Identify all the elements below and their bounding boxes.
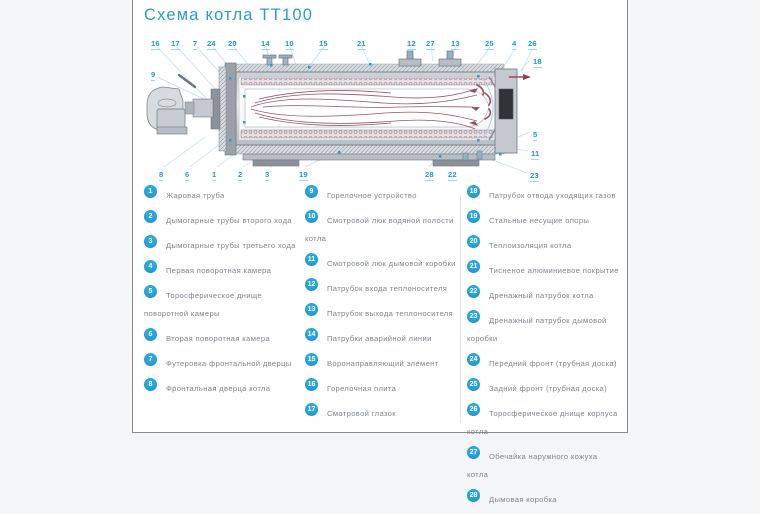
legend-badge-6: 6 [144, 328, 157, 341]
callout-8: 8 [159, 170, 163, 181]
legend-badge-15: 15 [305, 353, 318, 366]
legend-label-6: Вторая поворотная камера [166, 334, 270, 343]
legend-item-6: 6Вторая поворотная камера [144, 328, 296, 346]
legend-label-14: Патрубки аварийной линии [327, 334, 432, 343]
legend-badge-22: 22 [467, 285, 480, 298]
legend-item-13: 13Патрубок выхода теплоносителя [305, 303, 463, 321]
legend-badge-24: 24 [467, 353, 480, 366]
legend-item-20: 20Теплоизоляция котла [467, 235, 619, 253]
legend-item-1: 1Жаровая труба [144, 185, 296, 203]
callout-23: 23 [530, 171, 539, 182]
legend-badge-10: 10 [305, 210, 318, 223]
legend-badge-12: 12 [305, 278, 318, 291]
callout-14: 14 [261, 39, 270, 50]
legend-label-27: Обечайка наружного кожуха котла [467, 452, 597, 479]
legend-column-3: 18Патрубок отвода уходящих газов19Стальн… [467, 185, 619, 514]
callout-18: 18 [533, 57, 542, 68]
callout-16: 16 [151, 39, 160, 50]
callout-10: 10 [285, 39, 294, 50]
legend-label-22: Дренажный патрубок котла [489, 291, 594, 300]
legend-item-17: 17Смотровой глазок [305, 403, 463, 421]
boiler-diagram-svg [133, 33, 627, 185]
legend-badge-21: 21 [467, 260, 480, 273]
legend-badge-23: 23 [467, 310, 480, 323]
legend-item-14: 14Патрубки аварийной линии [305, 328, 463, 346]
legend-label-9: Горелочное устройство [327, 191, 417, 200]
legend: 1Жаровая труба2Дымогарные трубы второго … [133, 185, 627, 433]
legend-item-9: 9Горелочное устройство [305, 185, 463, 203]
legend-item-23: 23Дренажный патрубок дымовой коробки [467, 310, 619, 346]
callout-7: 7 [193, 39, 197, 50]
legend-label-4: Первая поворотная камера [166, 266, 271, 275]
legend-label-20: Теплоизоляция котла [489, 241, 571, 250]
legend-badge-20: 20 [467, 235, 480, 248]
legend-badge-11: 11 [305, 253, 318, 266]
legend-item-7: 7Футеровка фронтальной дверцы [144, 353, 296, 371]
legend-item-24: 24Передний фронт (трубная доска) [467, 353, 619, 371]
callout-6: 6 [185, 170, 189, 181]
legend-item-12: 12Патрубок входа теплоносителя [305, 278, 463, 296]
callout-25: 25 [485, 39, 494, 50]
legend-label-19: Стальные несущие опоры [489, 216, 589, 225]
legend-label-11: Смотровой люк дымовой коробки [327, 259, 456, 268]
legend-badge-19: 19 [467, 210, 480, 223]
screenshot-root: Схема котла ТТ100 [0, 0, 760, 440]
legend-item-27: 27Обечайка наружного кожуха котла [467, 446, 619, 482]
legend-item-10: 10Смотровой люк водяной полости котла [305, 210, 463, 246]
legend-badge-8: 8 [144, 378, 157, 391]
legend-label-26: Торосферическое днище корпуса котла [467, 409, 618, 436]
callout-20: 20 [228, 39, 237, 50]
legend-label-3: Дымогарные трубы третьего хода [166, 241, 296, 250]
callout-1: 1 [212, 170, 216, 181]
callout-19: 19 [299, 170, 308, 181]
legend-label-18: Патрубок отвода уходящих газов [489, 191, 616, 200]
callout-15: 15 [319, 39, 328, 50]
callout-9: 9 [151, 70, 155, 81]
legend-badge-2: 2 [144, 210, 157, 223]
callout-2: 2 [238, 170, 242, 181]
legend-item-15: 15Воронаправляющий элемент [305, 353, 463, 371]
legend-badge-3: 3 [144, 235, 157, 248]
legend-item-4: 4Первая поворотная камера [144, 260, 296, 278]
callout-24: 24 [207, 39, 216, 50]
legend-label-24: Передний фронт (трубная доска) [489, 359, 617, 368]
legend-label-13: Патрубок выхода теплоносителя [327, 309, 453, 318]
legend-badge-13: 13 [305, 303, 318, 316]
legend-item-19: 19Стальные несущие опоры [467, 210, 619, 228]
legend-item-25: 25Задний фронт (трубная доска) [467, 378, 619, 396]
legend-item-22: 22Дренажный патрубок котла [467, 285, 619, 303]
legend-label-15: Воронаправляющий элемент [327, 359, 439, 368]
legend-badge-5: 5 [144, 285, 157, 298]
legend-item-21: 21Тисненое алюминиевое покрытие [467, 260, 619, 278]
callout-22: 22 [448, 170, 457, 181]
legend-item-28: 28Дымовая коробка [467, 489, 619, 507]
legend-column-2: 9Горелочное устройство10Смотровой люк во… [305, 185, 463, 428]
legend-label-1: Жаровая труба [166, 191, 225, 200]
callout-27: 27 [426, 39, 435, 50]
legend-item-11: 11Смотровой люк дымовой коробки [305, 253, 463, 271]
boiler-diagram: 1617724201410152112271325426 1851123 9 8… [133, 33, 627, 185]
legend-badge-14: 14 [305, 328, 318, 341]
legend-badge-17: 17 [305, 403, 318, 416]
page-title: Схема котла ТТ100 [144, 6, 313, 25]
legend-label-10: Смотровой люк водяной полости котла [305, 216, 454, 243]
callout-21: 21 [357, 39, 366, 50]
legend-label-25: Задний фронт (трубная доска) [489, 384, 607, 393]
legend-badge-28: 28 [467, 489, 480, 502]
legend-item-3: 3Дымогарные трубы третьего хода [144, 235, 296, 253]
legend-label-5: Торосферическое днище поворотной камеры [144, 291, 262, 318]
legend-label-7: Футеровка фронтальной дверцы [166, 359, 292, 368]
legend-badge-25: 25 [467, 378, 480, 391]
legend-label-2: Дымогарные трубы второго хода [166, 216, 292, 225]
callout-26: 26 [528, 39, 537, 50]
legend-column-1: 1Жаровая труба2Дымогарные трубы второго … [144, 185, 296, 403]
legend-item-5: 5Торосферическое днище поворотной камеры [144, 285, 296, 321]
legend-label-8: Фронтальная дверца котла [166, 384, 270, 393]
legend-badge-16: 16 [305, 378, 318, 391]
legend-badge-26: 26 [467, 403, 480, 416]
legend-label-28: Дымовая коробка [489, 495, 557, 504]
legend-badge-4: 4 [144, 260, 157, 273]
callout-4: 4 [512, 39, 516, 50]
legend-label-12: Патрубок входа теплоносителя [327, 284, 447, 293]
callout-11: 11 [531, 149, 539, 160]
legend-badge-9: 9 [305, 185, 318, 198]
callout-5: 5 [533, 130, 537, 141]
callout-13: 13 [451, 39, 460, 50]
legend-label-21: Тисненое алюминиевое покрытие [489, 266, 619, 275]
legend-badge-7: 7 [144, 353, 157, 366]
legend-item-2: 2Дымогарные трубы второго хода [144, 210, 296, 228]
legend-badge-1: 1 [144, 185, 157, 198]
legend-item-18: 18Патрубок отвода уходящих газов [467, 185, 619, 203]
legend-item-8: 8Фронтальная дверца котла [144, 378, 296, 396]
legend-label-16: Горелочная плита [327, 384, 396, 393]
callout-3: 3 [265, 170, 269, 181]
legend-badge-18: 18 [467, 185, 480, 198]
content-panel: Схема котла ТТ100 [132, 0, 628, 433]
callout-28: 28 [425, 170, 434, 181]
legend-item-16: 16Горелочная плита [305, 378, 463, 396]
callout-17: 17 [171, 39, 180, 50]
legend-item-26: 26Торосферическое днище корпуса котла [467, 403, 619, 439]
legend-label-23: Дренажный патрубок дымовой коробки [467, 316, 607, 343]
callout-12: 12 [407, 39, 416, 50]
legend-badge-27: 27 [467, 446, 480, 459]
legend-label-17: Смотровой глазок [327, 409, 396, 418]
